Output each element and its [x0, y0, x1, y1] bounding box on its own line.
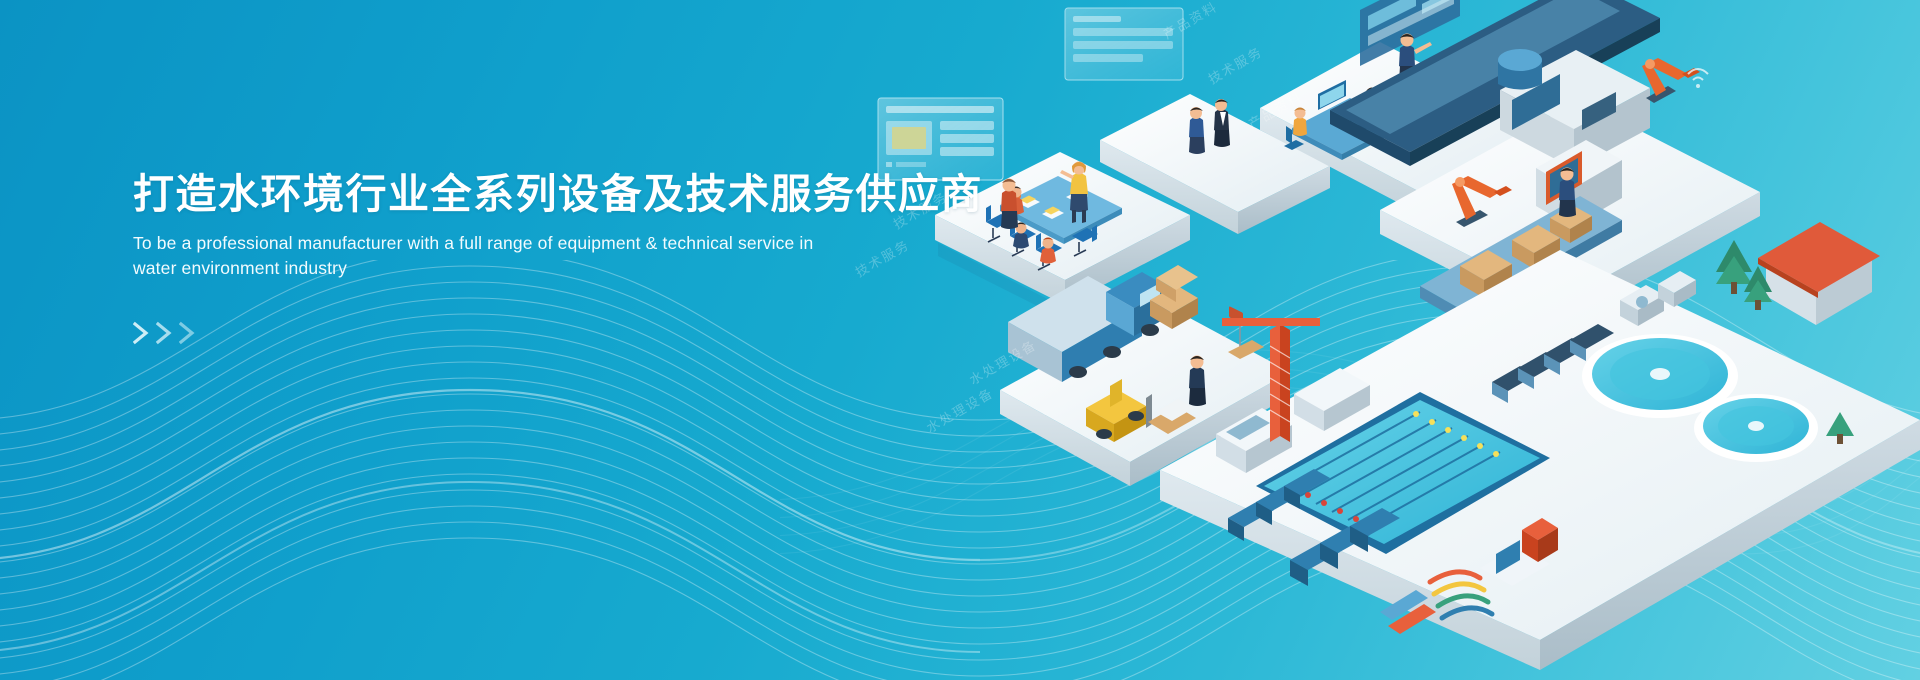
banner-subline: To be a professional manufacturer with a… — [133, 231, 828, 281]
chevron-right-icon-3[interactable] — [179, 321, 197, 345]
clarifier-pool-small — [1694, 394, 1818, 462]
chevron-right-icon-2[interactable] — [156, 321, 174, 345]
hologram-panel-top — [1065, 8, 1183, 80]
hologram-panel-left — [878, 98, 1003, 180]
pavilion-building — [1758, 222, 1880, 325]
storage-silo — [1498, 49, 1542, 90]
water-treatment-platform — [1160, 222, 1920, 670]
banner-copy: 打造水环境行业全系列设备及技术服务供应商 To be a professiona… — [133, 168, 893, 345]
robot-arm-orange — [1642, 58, 1700, 103]
hero-banner: 打造水环境行业全系列设备及技术服务供应商 To be a professiona… — [0, 0, 1920, 680]
isometric-illustration: 产品资料 技术服务 产品资料 技术服务 技术服务 水处理设备 水处理设备 — [860, 0, 1920, 680]
scroll-more-chevrons[interactable] — [133, 321, 213, 345]
chevron-right-icon-1[interactable] — [133, 321, 151, 345]
banner-headline: 打造水环境行业全系列设备及技术服务供应商 — [133, 168, 893, 220]
